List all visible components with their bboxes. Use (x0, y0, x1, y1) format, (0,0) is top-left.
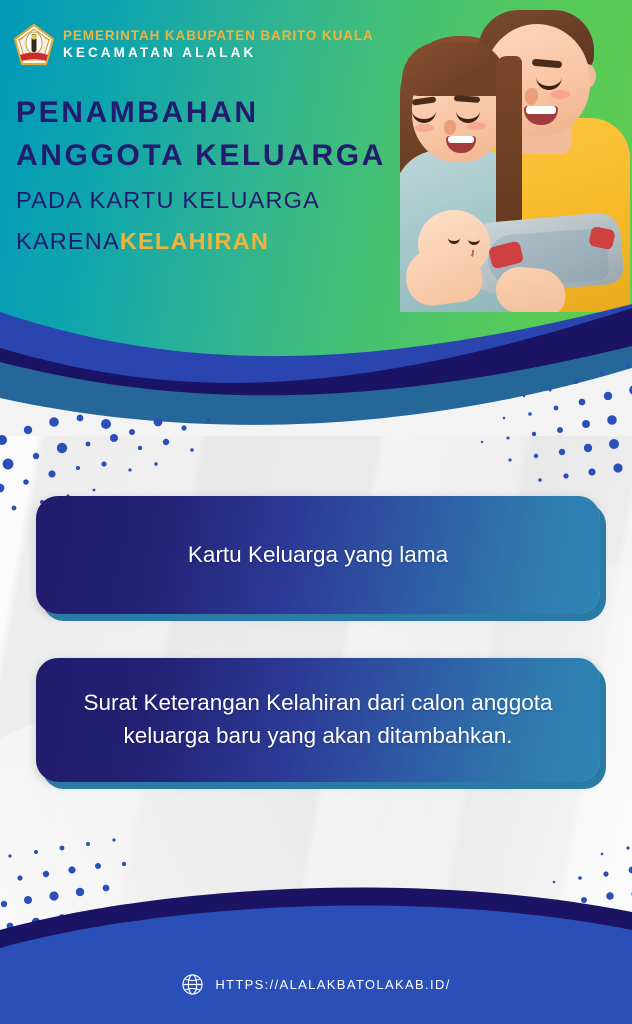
government-identity: PEMERINTAH KABUPATEN BARITO KUALA KECAMA… (14, 24, 374, 66)
requirement-card-2[interactable]: Surat Keterangan Kelahiran dari calon an… (36, 658, 600, 782)
mother-blush-left (415, 124, 434, 132)
title-line-2: ANGGOTA KELUARGA (16, 135, 386, 178)
mother-hair-side (496, 56, 522, 236)
mother-blush-right (467, 122, 486, 130)
globe-icon (181, 973, 204, 996)
requirement-card-2-text: Surat Keterangan Kelahiran dari calon an… (70, 687, 566, 752)
poster-root: PEMERINTAH KABUPATEN BARITO KUALA KECAMA… (0, 0, 632, 1024)
top-wave-decoration (0, 286, 632, 436)
footer-wave-decoration (0, 864, 632, 1024)
father-blush-right (550, 90, 570, 99)
website-url: HTTPS://ALALAKBATOLAKAB.ID/ (215, 977, 450, 992)
requirement-card-1-text: Kartu Keluarga yang lama (188, 540, 448, 570)
district-name: KECAMATAN ALALAK (63, 46, 374, 61)
subtitle-highlight: KELAHIRAN (120, 228, 269, 254)
mother-teeth (448, 136, 474, 143)
subtitle-line-2: KARENAKELAHIRAN (16, 224, 386, 259)
requirement-card-1[interactable]: Kartu Keluarga yang lama (36, 496, 600, 614)
page-title: PENAMBAHAN ANGGOTA KELUARGA PADA KARTU K… (16, 92, 386, 260)
subtitle-prefix: KARENA (16, 228, 120, 254)
government-name-lines: PEMERINTAH KABUPATEN BARITO KUALA KECAMA… (63, 29, 374, 61)
father-teeth (526, 106, 556, 114)
barito-kuala-government-crest (14, 24, 54, 66)
mother-hair-front (402, 42, 506, 96)
family-with-newborn-illustration (400, 0, 632, 312)
footer-website[interactable]: HTTPS://ALALAKBATOLAKAB.ID/ (0, 973, 632, 996)
regency-name: PEMERINTAH KABUPATEN BARITO KUALA (63, 29, 374, 44)
title-line-1: PENAMBAHAN (16, 92, 386, 135)
subtitle-line-1: PADA KARTU KELUARGA (16, 183, 386, 218)
